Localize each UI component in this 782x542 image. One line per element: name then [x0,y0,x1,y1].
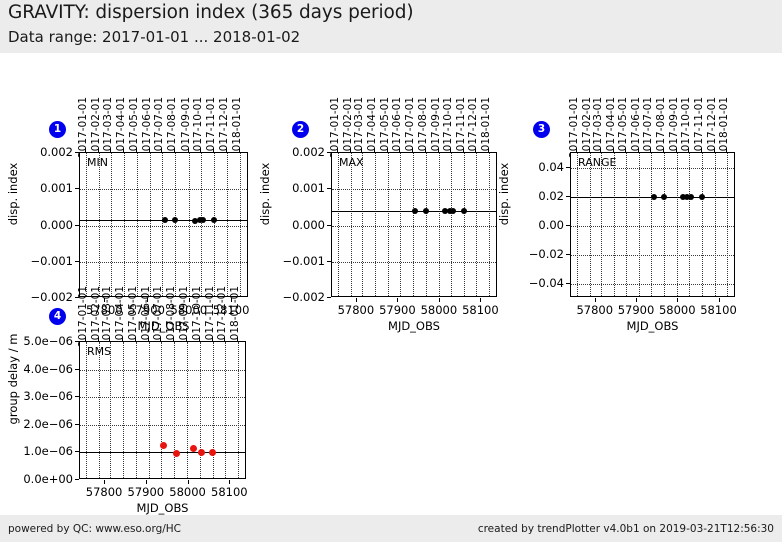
data-point [423,208,429,214]
gridline-vertical [187,342,188,478]
top-date-tick: 2017-03-01 [592,97,604,158]
top-date-tick: 2017-04-01 [605,97,617,158]
top-date-tick: 2017-03-01 [353,97,365,158]
y-tickmark [566,254,570,255]
x-axis-tick-label: 58000 [169,485,206,499]
gridline-horizontal [80,370,245,371]
gridline-vertical [99,153,100,296]
gridline-vertical [388,153,389,296]
top-date-tick: 2017-12-01 [467,97,479,158]
y-tickmark [75,369,79,370]
y-tickmark [75,396,79,397]
top-date-tick: 2017-10-01 [192,97,204,158]
gridline-vertical [413,153,414,296]
panel-tag-label: MAX [339,156,364,169]
gridline-vertical [149,342,150,478]
gridline-vertical [227,153,228,296]
panel-badge-1: 1 [49,121,66,138]
y-axis-tick-label: 3.0e−06 [11,389,73,403]
page-subtitle: Data range: 2017-01-01 ... 2018-01-02 [8,28,300,46]
gridline-horizontal [80,397,245,398]
top-date-tick: 2017-12-01 [218,97,230,158]
data-point [211,217,217,223]
gridline-vertical [123,342,124,478]
top-date-tick: 2017-11-01 [204,286,216,347]
y-axis-tick-label: 1.0e−06 [11,444,73,458]
x-axis-tick-label: 58000 [421,303,458,317]
x-tickmark [104,480,105,484]
y-tickmark [327,261,331,262]
gridline-vertical [577,153,578,296]
y-tickmark [75,451,79,452]
gridline-vertical [426,153,427,296]
gridline-horizontal [80,226,247,227]
top-date-tick: 2017-05-01 [379,97,391,158]
y-axis-tick-label: 0.000 [11,218,73,232]
plot-area-min [79,152,248,297]
y-tickmark [327,152,331,153]
gridline-vertical [677,153,678,296]
x-axis-title: MJD_OBS [137,501,189,515]
gridline-vertical [715,153,716,296]
top-date-tick: 2017-11-01 [693,97,705,158]
x-tickmark [146,480,147,484]
top-date-tick: 2017-11-01 [205,97,217,158]
panel-tag-label: MIN [87,156,108,169]
data-point [209,449,216,456]
x-tickmark [636,298,637,302]
gridline-vertical [338,153,339,296]
gridline-horizontal [332,262,496,263]
footer-credit-qc: powered by QC: www.eso.org/HC [8,523,181,535]
top-date-tick: 2017-01-01 [329,97,341,158]
gridline-horizontal [332,189,496,190]
gridline-horizontal [80,189,247,190]
gridline-vertical [626,153,627,296]
gridline-vertical [590,153,591,296]
top-date-tick: 2017-06-01 [140,286,152,347]
data-point [688,194,694,200]
top-date-tick: 2017-08-01 [655,97,667,158]
y-axis-tick-label: 0.001 [263,181,325,195]
gridline-vertical [189,153,190,296]
x-axis-tick-label: 57900 [379,303,416,317]
x-axis-tick-label: 58100 [211,485,248,499]
top-date-tick: 2017-10-01 [680,97,692,158]
top-date-tick: 2017-09-01 [178,286,190,347]
plot-area-rms [79,341,246,479]
plot-area-max [331,152,497,297]
y-tickmark [566,167,570,168]
page-title: GRAVITY: dispersion index (365 days peri… [8,2,414,23]
x-tickmark [595,298,596,302]
gridline-vertical [136,342,137,478]
y-axis-tick-label: 5.0e−06 [11,334,73,348]
panel-badge-2: 2 [292,121,309,138]
gridline-vertical [201,153,202,296]
x-axis-tick-label: 57900 [618,303,655,317]
y-axis-tick-label: −0.001 [11,254,73,268]
y-tickmark [75,225,79,226]
y-axis-tick-label: 0.00 [502,218,564,232]
gridline-vertical [214,153,215,296]
gridline-vertical [213,342,214,478]
top-date-tick: 2017-11-01 [455,97,467,158]
top-date-tick: 2017-01-01 [568,97,580,158]
gridline-vertical [351,153,352,296]
y-axis-title: group delay / m [6,319,20,499]
y-tickmark [75,152,79,153]
y-tickmark [75,341,79,342]
x-axis-title: MJD_OBS [627,319,679,333]
data-point [461,208,467,214]
gridline-vertical [651,153,652,296]
top-date-tick: 2017-06-01 [391,97,403,158]
y-tickmark [327,297,331,298]
y-axis-title: disp. index [6,134,20,314]
top-date-tick: 2018-01-01 [229,286,241,347]
gridline-horizontal [571,255,734,256]
y-axis-tick-label: 0.02 [502,189,564,203]
gridline-horizontal [80,262,247,263]
footer-credit-trendplotter: created by trendPlotter v4.0b1 on 2019-0… [478,523,774,535]
y-tickmark [75,424,79,425]
top-date-tick: 2017-03-01 [101,286,113,347]
top-date-tick: 2017-02-01 [581,97,593,158]
data-point [173,450,180,457]
y-axis-tick-label: 0.04 [502,160,564,174]
data-point [190,445,197,452]
gridline-vertical [240,153,241,296]
gridline-vertical [601,153,602,296]
data-point [160,442,167,449]
y-tickmark [327,225,331,226]
top-date-tick: 2018-01-01 [231,97,243,158]
y-axis-title: disp. index [497,134,511,314]
top-date-tick: 2018-01-01 [480,97,492,158]
gridline-vertical [664,153,665,296]
top-date-tick: 2017-09-01 [430,97,442,158]
gridline-vertical [110,342,111,478]
top-date-tick: 2017-06-01 [630,97,642,158]
y-axis-tick-label: 0.002 [11,145,73,159]
y-tickmark [327,188,331,189]
data-point [699,194,705,200]
gridline-vertical [162,153,163,296]
gridline-vertical [86,342,87,478]
gridline-vertical [238,342,239,478]
x-tickmark [480,298,481,302]
y-tickmark [75,261,79,262]
data-point [162,217,168,223]
gridline-vertical [702,153,703,296]
data-point [198,449,205,456]
y-axis-tick-label: 0.002 [263,145,325,159]
gridline-vertical [489,153,490,296]
top-date-tick: 2017-05-01 [127,286,139,347]
panel-tag-label: RMS [87,345,111,358]
x-tickmark [677,298,678,302]
y-tickmark [566,225,570,226]
plot-area-range [570,152,735,297]
y-axis-tick-label: −0.02 [502,247,564,261]
data-point [651,194,657,200]
top-date-tick: 2017-09-01 [180,97,192,158]
x-tickmark [439,298,440,302]
gridline-vertical [174,342,175,478]
gridline-vertical [225,342,226,478]
x-axis-tick-label: 57900 [128,485,165,499]
data-point [172,217,178,223]
y-axis-tick-label: 2.0e−06 [11,417,73,431]
x-tickmark [229,480,230,484]
top-date-tick: 2017-10-01 [442,97,454,158]
top-date-tick: 2017-02-01 [90,97,102,158]
gridline-vertical [137,153,138,296]
top-date-tick: 2017-09-01 [668,97,680,158]
gridline-vertical [727,153,728,296]
x-tickmark [719,298,720,302]
gridline-vertical [689,153,690,296]
data-point [200,217,206,223]
x-axis-tick-label: 58100 [700,303,737,317]
gridline-vertical [124,153,125,296]
top-date-tick: 2017-01-01 [77,286,89,347]
top-date-tick: 2017-04-01 [115,97,127,158]
gridline-horizontal [571,226,734,227]
gridline-vertical [476,153,477,296]
y-axis-tick-label: −0.002 [263,290,325,304]
gridline-vertical [175,153,176,296]
gridline-horizontal [571,284,734,285]
x-tickmark [188,480,189,484]
panel-badge-4: 4 [49,308,66,325]
x-axis-tick-label: 57800 [338,303,375,317]
top-date-tick: 2017-02-01 [342,97,354,158]
gridline-vertical [400,153,401,296]
gridline-vertical [451,153,452,296]
top-date-tick: 2017-08-01 [166,97,178,158]
gridline-vertical [99,342,100,478]
top-date-tick: 2018-01-01 [718,97,730,158]
top-date-tick: 2017-12-01 [706,97,718,158]
panel-tag-label: RANGE [578,156,616,169]
gridline-vertical [150,153,151,296]
data-point [450,208,456,214]
y-axis-tick-label: 0.000 [263,218,325,232]
y-axis-tick-label: 4.0e−06 [11,362,73,376]
x-tickmark [356,298,357,302]
top-date-tick: 2017-08-01 [417,97,429,158]
y-axis-tick-label: −0.04 [502,276,564,290]
top-date-tick: 2017-07-01 [642,97,654,158]
y-axis-tick-label: 0.001 [11,181,73,195]
y-axis-tick-label: 0.0e+00 [11,472,73,486]
gridline-vertical [439,153,440,296]
x-tickmark [397,298,398,302]
x-axis-tick-label: 57800 [576,303,613,317]
x-axis-tick-label: 58000 [659,303,696,317]
y-axis-tick-label: −0.002 [11,290,73,304]
top-date-tick: 2017-08-01 [165,286,177,347]
top-date-tick: 2017-07-01 [404,97,416,158]
top-date-tick: 2017-02-01 [90,286,102,347]
y-tickmark [566,196,570,197]
x-axis-tick-label: 57800 [86,485,123,499]
x-axis-tick-label: 58100 [462,303,499,317]
top-date-tick: 2017-04-01 [366,97,378,158]
gridline-vertical [161,342,162,478]
top-date-tick: 2017-03-01 [102,97,114,158]
x-axis-title: MJD_OBS [388,319,440,333]
panel-badge-3: 3 [533,121,550,138]
top-date-tick: 2017-12-01 [216,286,228,347]
data-point [661,194,667,200]
top-date-tick: 2017-01-01 [77,97,89,158]
gridline-vertical [375,153,376,296]
reference-line [80,452,245,453]
top-date-tick: 2017-10-01 [191,286,203,347]
gridline-horizontal [332,226,496,227]
gridline-horizontal [80,425,245,426]
gridline-vertical [639,153,640,296]
gridline-vertical [111,153,112,296]
top-date-tick: 2017-06-01 [141,97,153,158]
y-tickmark [75,188,79,189]
top-date-tick: 2017-05-01 [128,97,140,158]
data-point [412,208,418,214]
gridline-vertical [362,153,363,296]
gridline-vertical [464,153,465,296]
y-axis-title: disp. index [258,134,272,314]
top-date-tick: 2017-07-01 [152,286,164,347]
top-date-tick: 2017-05-01 [617,97,629,158]
top-date-tick: 2017-04-01 [114,286,126,347]
gridline-vertical [614,153,615,296]
top-date-tick: 2017-07-01 [153,97,165,158]
gridline-vertical [200,342,201,478]
gridline-vertical [86,153,87,296]
y-tickmark [566,283,570,284]
y-axis-tick-label: −0.001 [263,254,325,268]
y-tickmark [75,479,79,480]
